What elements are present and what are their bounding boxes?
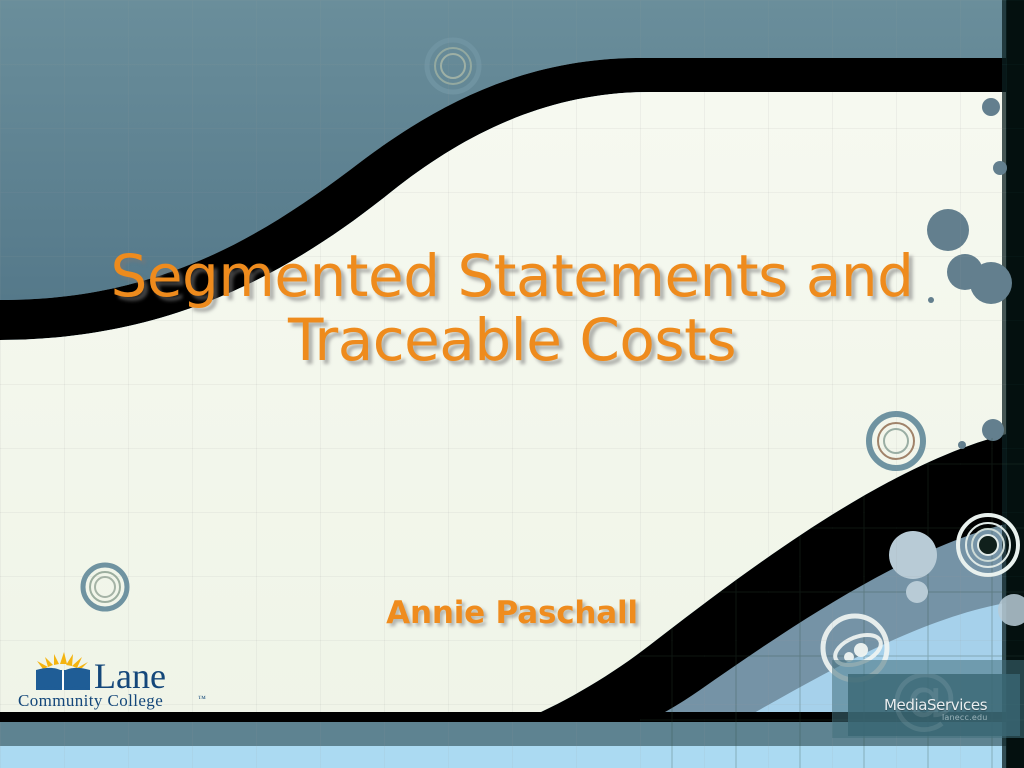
logo-wordmark: Lane [94, 656, 166, 696]
title-block: Segmented Statements and Traceable Costs [80, 245, 944, 373]
ring-decoration-right [869, 414, 923, 468]
open-book-icon [36, 668, 90, 690]
ring-decoration-top [427, 40, 479, 92]
logo-trademark: ™ [198, 694, 206, 703]
subtitle-block: Annie Paschall [80, 595, 944, 631]
swirl-dots [844, 643, 868, 662]
media-services-url: lanecc.edu [942, 713, 988, 722]
author-name: Annie Paschall [80, 595, 944, 631]
logo-tagline: Community College [18, 691, 163, 710]
presentation-slide: Segmented Statements and Traceable Costs… [0, 0, 1024, 768]
sunburst-icon [37, 652, 88, 670]
page-title: Segmented Statements and Traceable Costs [80, 245, 944, 373]
ring-decoration-black-wave [958, 515, 1018, 575]
right-edge-band [1006, 0, 1024, 768]
lane-community-college-logo: Lane Community College ™ [16, 648, 216, 710]
media-services-badge: @ MediaServices lanecc.edu [848, 674, 1020, 736]
bottom-blue-stripe [0, 746, 1024, 768]
media-services-name: MediaServices [884, 696, 987, 714]
